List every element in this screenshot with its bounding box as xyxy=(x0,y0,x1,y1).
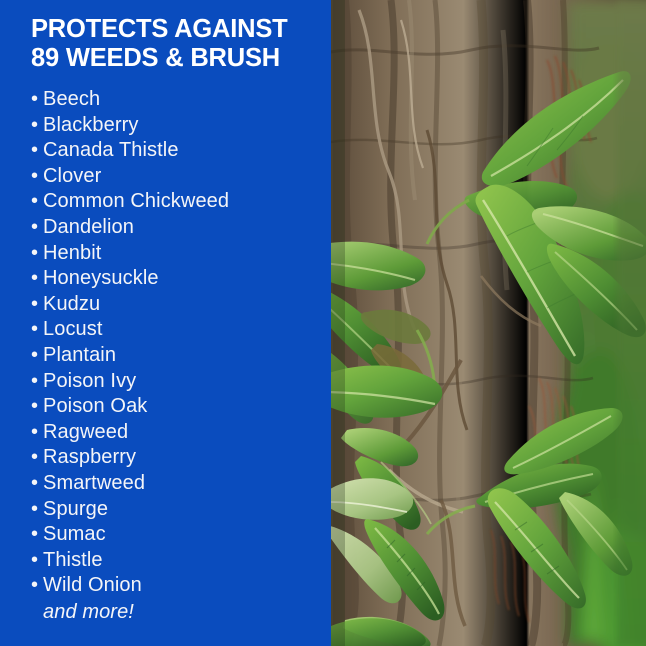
bullet-icon: • xyxy=(31,369,38,395)
list-item: •Locust xyxy=(31,317,326,343)
list-item: •Common Chickweed xyxy=(31,189,326,215)
list-item-label: Kudzu xyxy=(43,293,100,315)
weed-list-panel: PROTECTS AGAINST 89 WEEDS & BRUSH •Beech… xyxy=(0,0,331,646)
list-item: •Plantain xyxy=(31,343,326,369)
depth-of-field-overlay xyxy=(617,0,646,646)
infographic-card: PROTECTS AGAINST 89 WEEDS & BRUSH •Beech… xyxy=(0,0,646,646)
bullet-icon: • xyxy=(31,215,38,241)
list-item-label: Ragweed xyxy=(43,421,128,443)
bullet-icon: • xyxy=(31,522,38,548)
list-item-label: Clover xyxy=(43,165,101,187)
bullet-icon: • xyxy=(31,573,38,599)
list-item-label: Smartweed xyxy=(43,472,145,494)
list-item-label: Poison Oak xyxy=(43,395,147,417)
list-item: •Kudzu xyxy=(31,292,326,318)
list-item: •Poison Ivy xyxy=(31,369,326,395)
list-item: •Dandelion xyxy=(31,215,326,241)
bullet-icon: • xyxy=(31,420,38,446)
list-item-label: Raspberry xyxy=(43,446,136,468)
bullet-icon: • xyxy=(31,189,38,215)
list-item: •Smartweed xyxy=(31,471,326,497)
list-item-label: Poison Ivy xyxy=(43,370,136,392)
list-item-label: Locust xyxy=(43,318,103,340)
bullet-icon: • xyxy=(31,138,38,164)
bullet-icon: • xyxy=(31,241,38,267)
list-item-label: Plantain xyxy=(43,344,116,366)
bullet-icon: • xyxy=(31,164,38,190)
list-item: •Blackberry xyxy=(31,113,326,139)
list-item: •Honeysuckle xyxy=(31,266,326,292)
list-item: •Henbit xyxy=(31,241,326,267)
bullet-icon: • xyxy=(31,113,38,139)
list-item: •Raspberry xyxy=(31,445,326,471)
weed-list: •Beech •Blackberry •Canada Thistle •Clov… xyxy=(31,87,326,599)
list-item-label: Spurge xyxy=(43,498,108,520)
poison-ivy-photo xyxy=(331,0,646,646)
list-item-label: Honeysuckle xyxy=(43,267,159,289)
bullet-icon: • xyxy=(31,292,38,318)
list-item-label: Thistle xyxy=(43,549,103,571)
list-item: •Spurge xyxy=(31,497,326,523)
list-item: •Canada Thistle xyxy=(31,138,326,164)
bullet-icon: • xyxy=(31,266,38,292)
list-item-label: Canada Thistle xyxy=(43,139,179,161)
list-item: •Clover xyxy=(31,164,326,190)
bullet-icon: • xyxy=(31,343,38,369)
photo-illustration xyxy=(331,0,646,646)
bullet-icon: • xyxy=(31,471,38,497)
list-item-label: Dandelion xyxy=(43,216,134,238)
list-item-label: Blackberry xyxy=(43,114,138,136)
list-item: •Ragweed xyxy=(31,420,326,446)
bullet-icon: • xyxy=(31,87,38,113)
list-item: •Wild Onion xyxy=(31,573,326,599)
and-more-note: and more! xyxy=(43,600,134,626)
list-item-label: Common Chickweed xyxy=(43,190,229,212)
list-item: •Poison Oak xyxy=(31,394,326,420)
list-item: •Sumac xyxy=(31,522,326,548)
bullet-icon: • xyxy=(31,497,38,523)
page-title: PROTECTS AGAINST 89 WEEDS & BRUSH xyxy=(31,15,321,73)
bullet-icon: • xyxy=(31,394,38,420)
bullet-icon: • xyxy=(31,317,38,343)
list-item-label: Beech xyxy=(43,88,100,110)
photo-left-shadow xyxy=(331,0,345,646)
list-item-label: Sumac xyxy=(43,523,106,545)
list-item-label: Wild Onion xyxy=(43,574,142,596)
list-item-label: Henbit xyxy=(43,242,101,264)
list-item: •Beech xyxy=(31,87,326,113)
bullet-icon: • xyxy=(31,548,38,574)
list-item: •Thistle xyxy=(31,548,326,574)
bullet-icon: • xyxy=(31,445,38,471)
